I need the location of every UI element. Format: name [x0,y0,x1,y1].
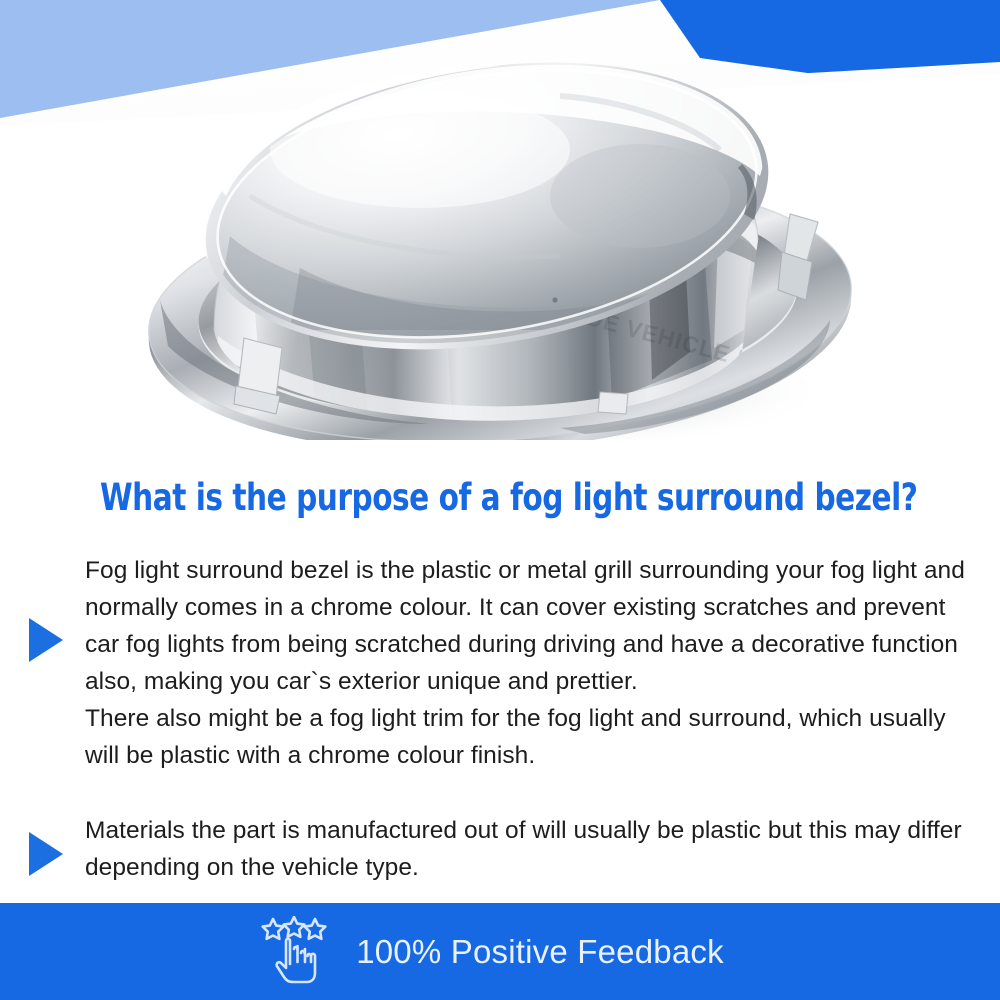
paragraph-text: Fog light surround bezel is the plastic … [85,552,970,774]
triangle-right-icon [29,832,63,876]
paragraph-text: Materials the part is manufactured out o… [85,812,970,886]
footer-banner: 100% Positive Feedback [0,903,1000,1000]
hero-illustration: TVP TRADE VEHICLE PARTS [0,0,1000,470]
triangle-right-icon [29,618,63,662]
paragraph-block-1: Fog light surround bezel is the plastic … [0,552,1000,774]
page-title: What is the purpose of a fog light surro… [100,476,900,519]
infographic-page: TVP TRADE VEHICLE PARTS [0,0,1000,1000]
body-content: Fog light surround bezel is the plastic … [0,552,1000,886]
paragraph-block-2: Materials the part is manufactured out o… [0,812,1000,886]
footer-label: 100% Positive Feedback [356,933,724,971]
hand-three-stars-icon [260,916,334,988]
footer-content: 100% Positive Feedback [260,916,724,988]
hero-product-banner: TVP TRADE VEHICLE PARTS [0,0,1000,470]
